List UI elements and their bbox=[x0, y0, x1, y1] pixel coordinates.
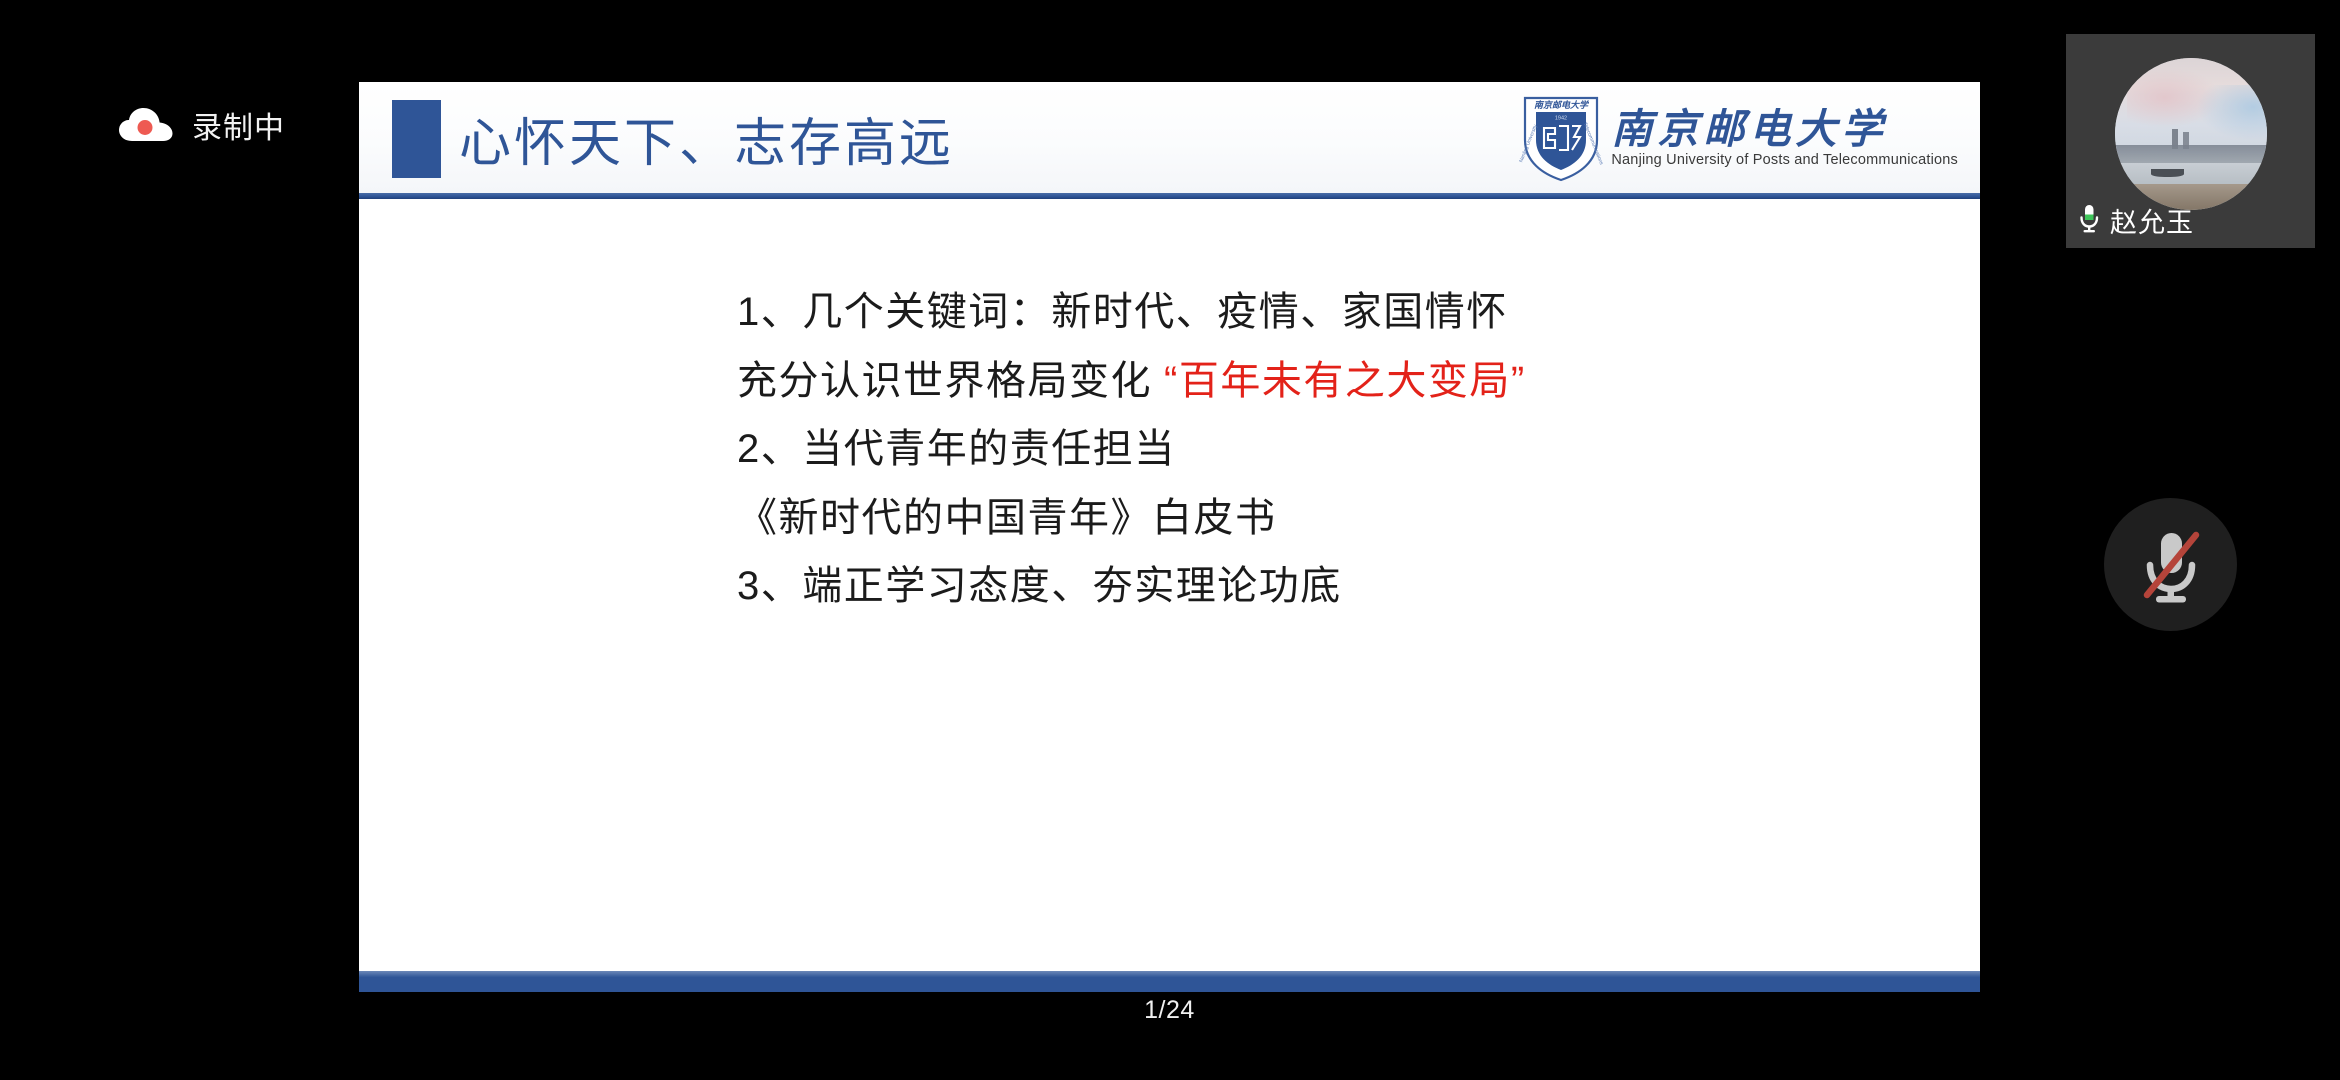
slide-footer-bar bbox=[359, 971, 1980, 992]
university-logo: 南京邮电大学 1942 Nanjing University Telecommu… bbox=[1519, 86, 1958, 190]
shared-slide: 心怀天下、志存高远 南京邮电大学 1942 Nanjing University… bbox=[359, 82, 1980, 992]
slide-body-line-text: 充分认识世界格局变化 bbox=[737, 359, 1152, 403]
microphone-icon bbox=[2076, 202, 2102, 239]
slide-body-line: 2、当代青年的责任担当 bbox=[737, 415, 1980, 484]
slide-title: 心怀天下、志存高远 bbox=[459, 94, 954, 182]
university-wordmark: 南京邮电大学 Nanjing University of Posts and T… bbox=[1611, 108, 1958, 168]
page-indicator: 1/24 bbox=[359, 996, 1980, 1025]
title-accent-bar bbox=[392, 100, 441, 178]
participant-video-tile[interactable]: 赵允玉 bbox=[2066, 34, 2315, 248]
university-name-en: Nanjing University of Posts and Telecomm… bbox=[1611, 152, 1958, 168]
recording-indicator: 录制中 bbox=[118, 98, 285, 152]
svg-text:南京邮电大学: 南京邮电大学 bbox=[1534, 100, 1590, 110]
slide-body-line-emphasis: “百年未有之大变局” bbox=[1164, 359, 1526, 403]
university-shield-icon: 南京邮电大学 1942 Nanjing University Telecommu… bbox=[1519, 88, 1603, 189]
microphone-muted-icon bbox=[2134, 523, 2208, 607]
slide-body-line-text: 《新时代的中国青年》白皮书 bbox=[737, 496, 1277, 540]
slide-body-line: 《新时代的中国青年》白皮书 bbox=[737, 484, 1980, 553]
slide-body: 1、几个关键词：新时代、疫情、家国情怀 充分认识世界格局变化“百年未有之大变局”… bbox=[359, 199, 1980, 971]
slide-body-line: 1、几个关键词：新时代、疫情、家国情怀 bbox=[737, 278, 1980, 347]
slide-body-line-text: 1、几个关键词：新时代、疫情、家国情怀 bbox=[737, 290, 1508, 334]
participant-nameplate: 赵允玉 bbox=[2076, 201, 2194, 240]
slide-body-line-text: 3、端正学习态度、夯实理论功底 bbox=[737, 564, 1342, 608]
slide-body-line: 充分认识世界格局变化“百年未有之大变局” bbox=[737, 347, 1980, 416]
avatar bbox=[2115, 58, 2267, 210]
participant-name: 赵允玉 bbox=[2110, 201, 2194, 240]
recording-cloud-icon bbox=[118, 105, 174, 145]
university-name-cn: 南京邮电大学 bbox=[1611, 108, 1887, 151]
mute-button[interactable] bbox=[2104, 498, 2237, 631]
svg-text:1942: 1942 bbox=[1555, 115, 1567, 121]
recording-label: 录制中 bbox=[192, 103, 285, 147]
slide-body-line-text: 2、当代青年的责任担当 bbox=[737, 427, 1176, 471]
slide-body-line: 3、端正学习态度、夯实理论功底 bbox=[737, 552, 1980, 621]
